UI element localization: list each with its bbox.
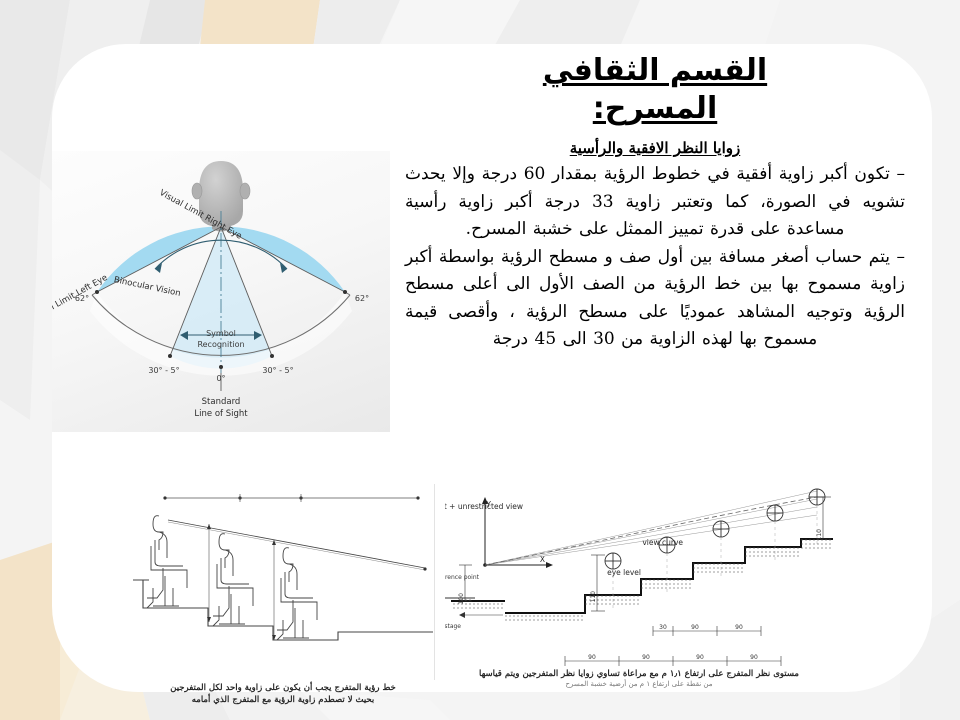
label-view-curve: view curve [642, 538, 683, 547]
section-subheading: زوايا النظر الافقية والرأسية [405, 137, 905, 160]
vision-cone-drawing: Visual Limit Left Eye Visual Limit Right… [52, 151, 390, 432]
label-recognition: Recognition [197, 340, 244, 349]
left-ear-shape [192, 183, 202, 199]
label-standard-line-1: Standard [202, 397, 241, 407]
seated-figure-1 [147, 516, 187, 608]
dim-riser-mid: 110 [590, 591, 597, 603]
figure-seat-sightlines: خط رؤية المتفرج يجب أن يكون على زاوية وا… [133, 480, 433, 680]
page-title-line-2: المسرح: [593, 91, 717, 126]
dim-lower-0: 90 [588, 654, 596, 661]
right-ear-shape [240, 183, 250, 199]
dim-lower-2: 90 [696, 654, 704, 661]
page-title-line-1: القسم الثقافي [543, 53, 767, 88]
riser-profile [143, 580, 433, 640]
page-title: القسم الثقافي المسرح: [405, 52, 905, 129]
figure-sight-caption-line-2: من نقطة على ارتفاع ١ م من أرضية خشبة الم… [445, 680, 833, 690]
label-eye-level: eye level [607, 568, 641, 577]
dimension-row-upper: 30 90 90 [653, 624, 761, 636]
body-paragraph-2: – يتم حساب أصغر مسافة بين أول صف و مسطح … [405, 244, 905, 354]
dimension-row-lower: 90 90 90 90 [565, 654, 781, 666]
dim-riser-right: 110 [816, 529, 823, 541]
label-reference-point: reference point [445, 574, 480, 581]
dim-lower-3: 90 [750, 654, 758, 661]
figure-sight-caption: مستوى نظر المتفرج على ارتفاع ١٫١ م مع مر… [445, 668, 833, 690]
dim-upper-1: 90 [691, 624, 699, 631]
seated-figure-2 [213, 534, 253, 626]
seated-figure-3 [277, 548, 317, 640]
dim-lower-1: 90 [642, 654, 650, 661]
angle-right-inner: 5° - 30° [262, 366, 293, 375]
sightline-section-drawing: Y X [445, 483, 833, 645]
dim-upper-0: 30 [659, 624, 667, 631]
angle-left-outer: 62° [75, 294, 89, 303]
dimension-row-lower-svg: 90 90 90 90 [445, 647, 833, 669]
figure-seat-caption-line-1: خط رؤية المتفرج يجب أن يكون على زاوية وا… [133, 682, 433, 694]
figure-sight-caption-line-1: مستوى نظر المتفرج على ارتفاع ١٫١ م مع مر… [445, 668, 833, 680]
dim-stage-height: 100 [458, 593, 465, 605]
dim-upper-2: 90 [735, 624, 743, 631]
figure-seat-caption: خط رؤية المتفرج يجب أن يكون على زاوية وا… [133, 682, 433, 707]
body-paragraph-1: – تكون أكبر زاوية أفقية في خطوط الرؤية ب… [405, 161, 905, 244]
figure-seat-caption-line-2: بحيث لا تصطدم زاوية الرؤية مع المتفرج ال… [133, 694, 433, 706]
seat-sightlines-drawing [133, 480, 433, 680]
angle-right-outer: 62° [355, 294, 369, 303]
label-binocular-vision: Binocular Vision [113, 275, 182, 299]
note-brow-height: a = brow height + unrestricted view [445, 502, 523, 511]
figure-sightline-section: Y X [445, 483, 833, 680]
angle-left-inner: 5° - 30° [148, 366, 179, 375]
label-stage: stage [445, 623, 461, 630]
label-symbol: Symbol [206, 329, 236, 338]
label-standard-line-2: Line of Sight [194, 409, 248, 419]
figure-horizontal-vision-cone: Visual Limit Left Eye Visual Limit Right… [52, 151, 390, 432]
text-column: القسم الثقافي المسرح: زوايا النظر الافقي… [405, 52, 905, 354]
bottom-figures-band: خط رؤية المتفرج يجب أن يكون على زاوية وا… [133, 480, 833, 680]
angle-center: 0° [216, 374, 225, 383]
